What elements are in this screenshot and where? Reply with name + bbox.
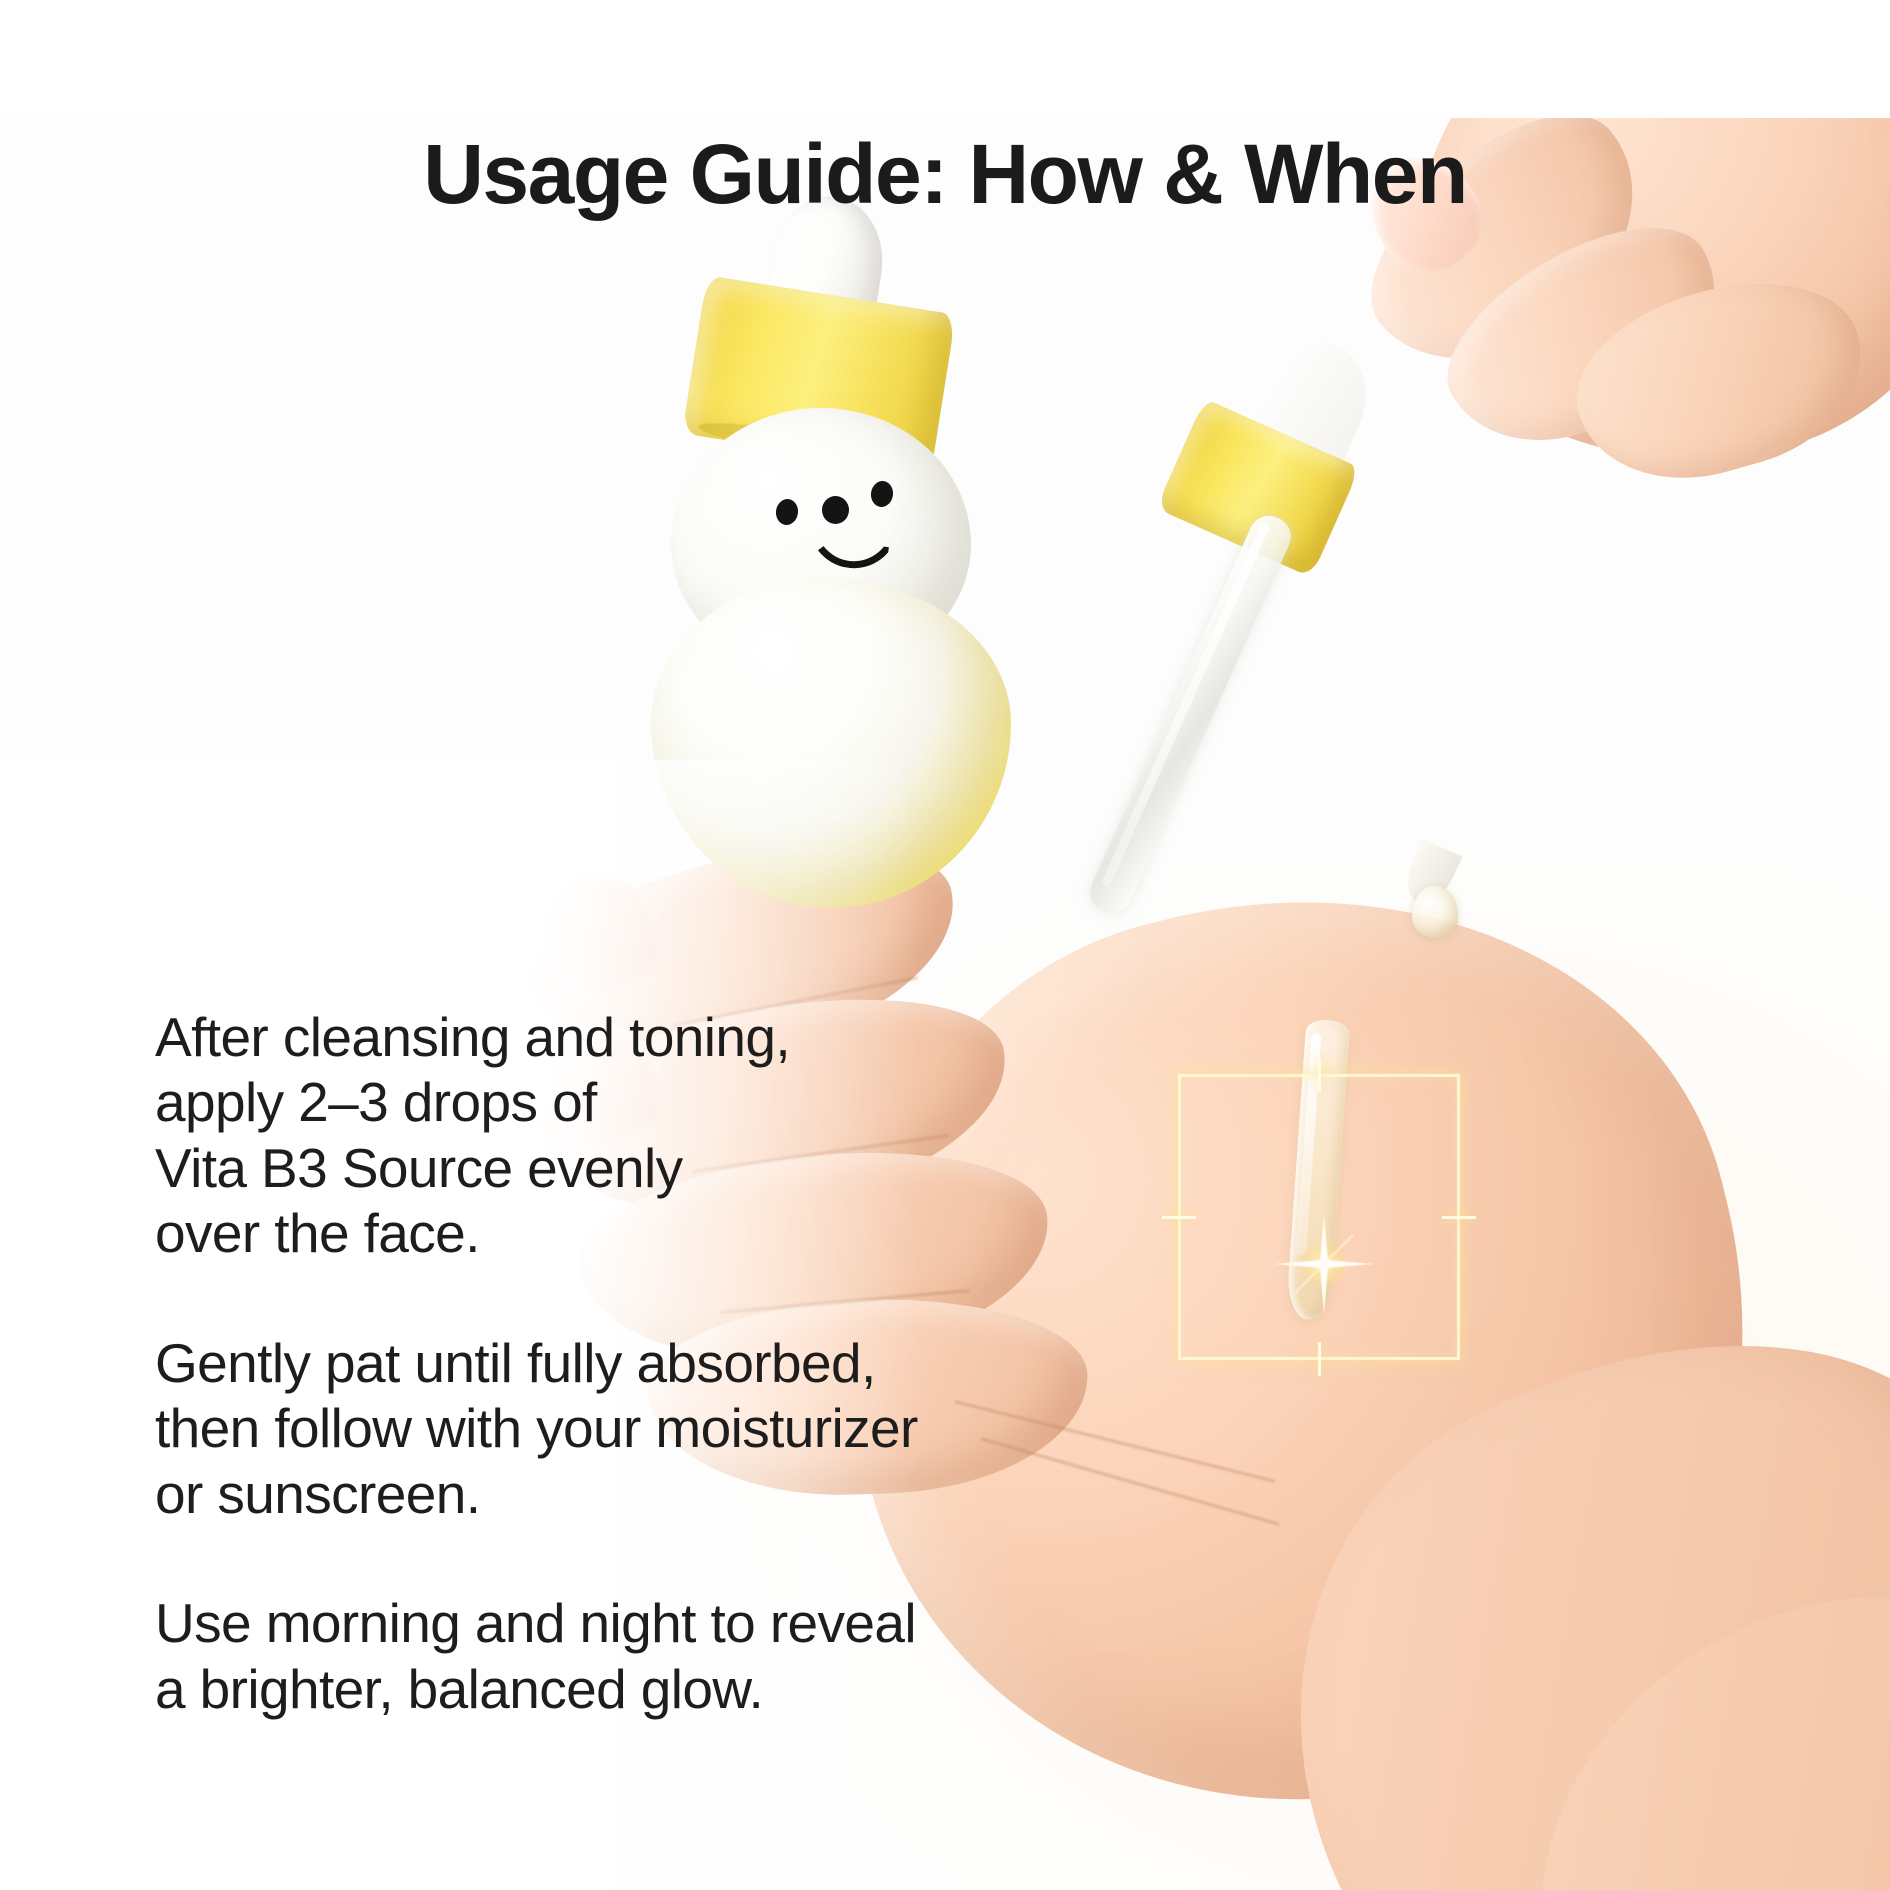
instruction-step-1: After cleansing and toning, apply 2–3 dr…	[155, 1005, 1055, 1267]
dropper-pipette	[1165, 400, 1495, 1020]
instructions-copy: After cleansing and toning, apply 2–3 dr…	[155, 1005, 1055, 1722]
page-title: Usage Guide: How & When	[0, 126, 1890, 223]
instruction-step-2: Gently pat until fully absorbed, then fo…	[155, 1331, 1055, 1527]
instruction-step-3: Use morning and night to reveal a bright…	[155, 1591, 1055, 1722]
usage-guide-slide: Usage Guide: How & When After cleansing …	[0, 0, 1890, 1890]
title-background-wash	[0, 0, 1890, 118]
serum-droplet	[1412, 886, 1458, 938]
